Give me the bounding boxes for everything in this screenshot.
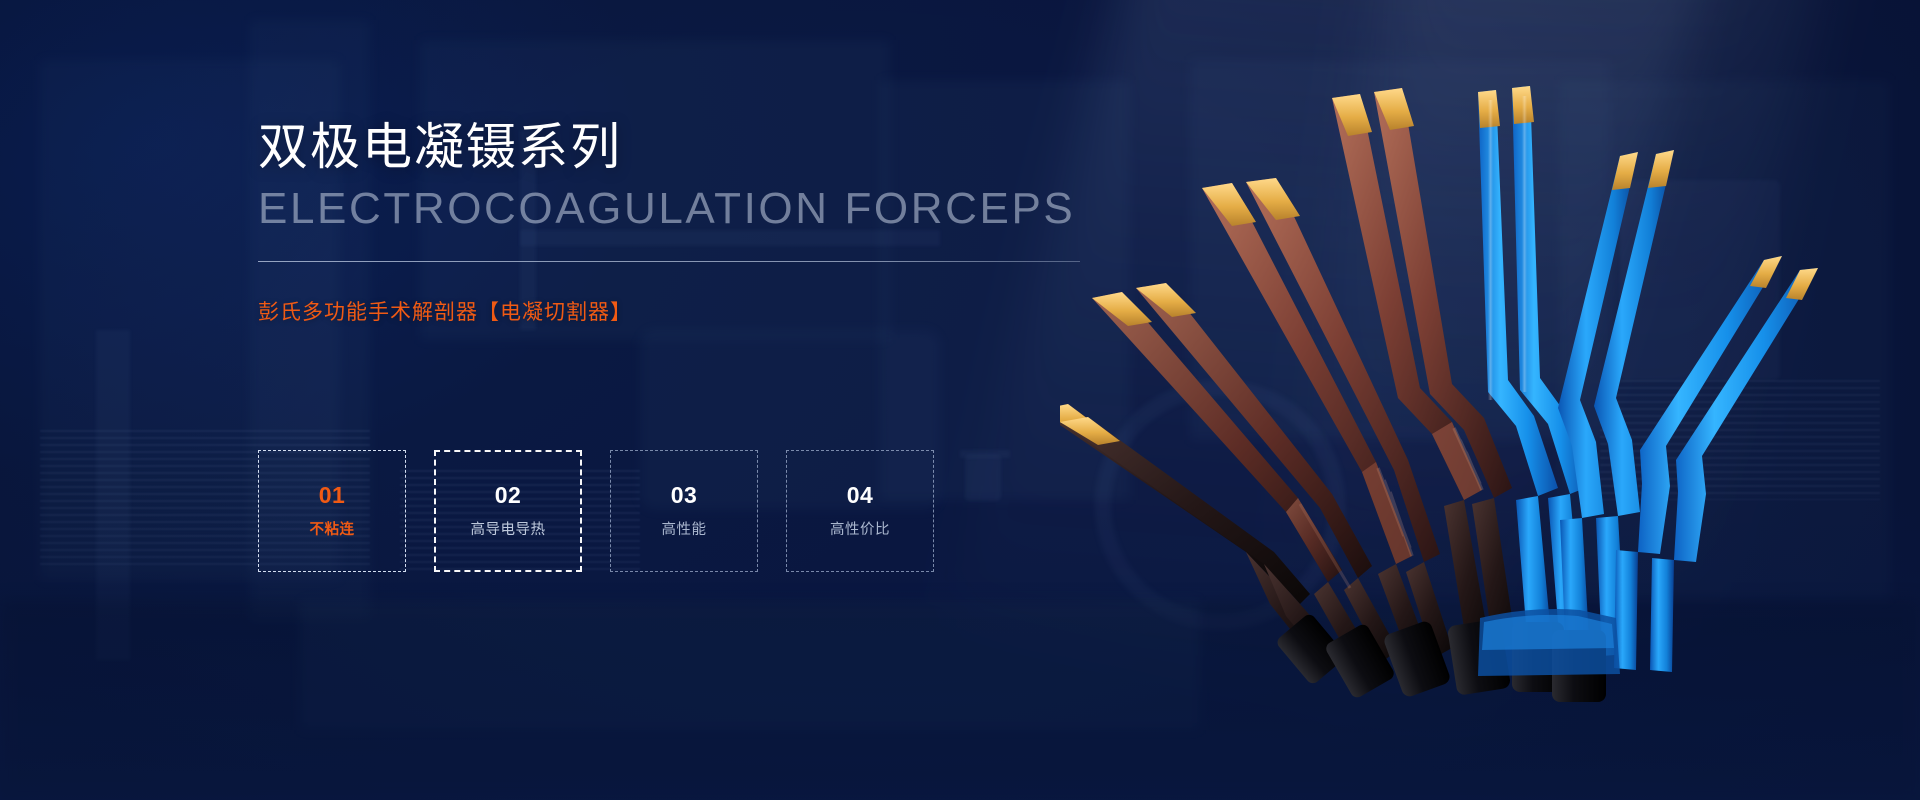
feature-item-03[interactable]: 03 高性能 — [610, 450, 758, 572]
feature-label: 高导电导热 — [471, 523, 546, 538]
feature-number: 04 — [847, 484, 874, 507]
product-banner: 双极电凝镊系列 ELECTROCOAGULATION FORCEPS 彭氏多功能… — [0, 0, 1920, 800]
feature-number: 01 — [319, 484, 346, 507]
feature-item-04[interactable]: 04 高性价比 — [786, 450, 934, 572]
page-title-en: ELECTROCOAGULATION FORCEPS — [258, 184, 1158, 233]
feature-item-02[interactable]: 02 高导电导热 — [434, 450, 582, 572]
title-divider — [258, 261, 1080, 262]
forceps-product-image — [1060, 70, 1820, 710]
feature-list: 01 不粘连 02 高导电导热 03 高性能 04 高性价比 — [258, 450, 934, 572]
headline-block: 双极电凝镊系列 ELECTROCOAGULATION FORCEPS 彭氏多功能… — [258, 118, 1158, 326]
feature-number: 02 — [495, 484, 522, 507]
feature-label: 高性价比 — [830, 523, 890, 538]
feature-label: 不粘连 — [310, 523, 355, 538]
feature-label: 高性能 — [662, 523, 707, 538]
feature-item-01[interactable]: 01 不粘连 — [258, 450, 406, 572]
feature-number: 03 — [671, 484, 698, 507]
page-title-cn: 双极电凝镊系列 — [258, 118, 1158, 176]
product-subtitle: 彭氏多功能手术解剖器【电凝切割器】 — [258, 296, 1158, 326]
